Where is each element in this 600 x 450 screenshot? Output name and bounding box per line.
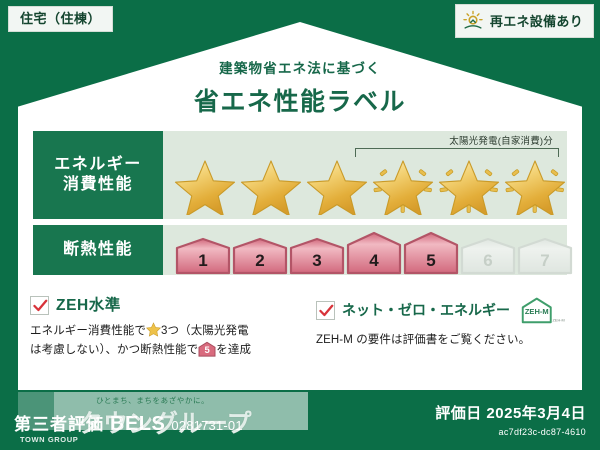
- insulation-header-label: 断熱性能: [63, 240, 133, 260]
- insulation-house-7: 7: [517, 237, 573, 275]
- solar-generation-note: 太陽光発電(自家消費)分: [355, 133, 559, 157]
- insulation-house-number: 5: [403, 252, 459, 269]
- evaluation-date: 評価日 2025年3月4日: [435, 402, 586, 423]
- inline-house-icon: 5: [198, 341, 216, 357]
- label-subtitle: 建築物省エネ法に基づく: [0, 57, 600, 77]
- star-icon: [305, 155, 369, 215]
- insulation-house-4: 4: [346, 231, 402, 275]
- nzeb-criteria-title: ネット・ゼロ・エネルギー: [342, 303, 510, 317]
- insulation-house-number: 6: [460, 252, 516, 269]
- star-icon: [173, 155, 237, 215]
- star-icon-solar: [437, 155, 501, 215]
- energy-header-line2: 消費性能: [63, 175, 133, 195]
- zeh-criteria-body: エネルギー消費性能で 3つ（太陽光発電 は考慮しない）、かつ断熱性能で 5 を達…: [30, 322, 300, 359]
- zeh-criteria-header: ZEH水準: [30, 296, 300, 315]
- nzeb-criteria-header: ネット・ゼロ・エネルギー ZEH-M ZEH-M: [316, 296, 570, 324]
- zeh-body-part3: を達成: [216, 344, 251, 356]
- insulation-house-number: 7: [517, 252, 573, 269]
- performance-table: エネルギー 消費性能 太陽光発電(自家消費)分: [33, 131, 567, 275]
- zeh-body-star-count: 3つ（太陽光発電: [161, 325, 249, 337]
- nzeb-criteria-body: ZEH-M の要件は評価書をご覧ください。: [316, 331, 570, 350]
- renewable-badge-label: 再エネ設備あり: [490, 15, 583, 28]
- sun-solar-icon: [462, 10, 484, 32]
- bels-label: BELS: [110, 413, 165, 436]
- insulation-house-3: 3: [289, 237, 345, 275]
- bels-number: 0281731-01: [171, 418, 242, 433]
- insulation-house-2: 2: [232, 237, 288, 275]
- insulation-performance-header: 断熱性能: [33, 225, 163, 275]
- insulation-house-number: 2: [232, 252, 288, 269]
- insulation-house-number: 3: [289, 252, 345, 269]
- energy-label-root: 住宅（住棟） 再エネ設備あり 建築物省エネ法に基づく 省エネ性能ラベル: [0, 0, 600, 450]
- star-icon-solar: [503, 155, 567, 215]
- insulation-performance-row: 断熱性能 1: [33, 225, 567, 275]
- insulation-performance-cell: 1 2: [163, 225, 567, 275]
- zeh-checkbox[interactable]: [30, 296, 49, 315]
- nzeb-checkbox[interactable]: [316, 301, 335, 320]
- evaluation-hash: ac7df23c-dc87-4610: [435, 427, 586, 437]
- insulation-house-number: 1: [175, 252, 231, 269]
- insulation-house-number: 4: [346, 252, 402, 269]
- building-type-chip: 住宅（住棟）: [8, 6, 113, 32]
- zeh-criteria-block: ZEH水準 エネルギー消費性能で 3つ（太陽光発電 は考慮しない）、かつ断熱性能…: [30, 296, 300, 359]
- label-title-block: 建築物省エネ法に基づく 省エネ性能ラベル: [0, 57, 600, 118]
- inline-star-icon: [146, 322, 161, 337]
- insulation-level-scale: 1 2: [175, 225, 573, 275]
- renewable-equipment-badge: 再エネ設備あり: [455, 4, 594, 38]
- energy-star-rating: [173, 155, 567, 215]
- bels-evaluation-info: 第三者評価 BELS 0281731-01: [14, 410, 243, 436]
- nzeb-criteria-block: ネット・ゼロ・エネルギー ZEH-M ZEH-M ZEH-M の要件は評価書をご…: [300, 296, 570, 359]
- label-title: 省エネ性能ラベル: [0, 82, 600, 118]
- third-party-label: 第三者評価: [14, 410, 104, 435]
- building-type-label: 住宅（住棟）: [20, 11, 101, 26]
- insulation-house-1: 1: [175, 237, 231, 275]
- star-icon-solar: [371, 155, 435, 215]
- footer-bar: 第三者評価 BELS 0281731-01 評価日 2025年3月4日 ac7d…: [0, 392, 600, 450]
- zeh-body-part2: は考慮しない）、かつ断熱性能で: [30, 344, 198, 356]
- zeh-criteria-title: ZEH水準: [56, 298, 121, 314]
- inline-house-number: 5: [198, 346, 216, 356]
- zeh-m-house-logo: ZEH-M ZEH-M: [519, 296, 565, 324]
- star-icon: [239, 155, 303, 215]
- evaluation-date-info: 評価日 2025年3月4日 ac7df23c-dc87-4610: [435, 402, 586, 437]
- insulation-house-6: 6: [460, 237, 516, 275]
- svg-text:ZEH-M: ZEH-M: [553, 318, 565, 322]
- insulation-house-5: 5: [403, 231, 459, 275]
- energy-header-line1: エネルギー: [54, 155, 142, 175]
- energy-performance-header: エネルギー 消費性能: [33, 131, 163, 219]
- zeh-body-part1: エネルギー消費性能で: [30, 325, 146, 337]
- svg-text:ZEH-M: ZEH-M: [525, 307, 549, 316]
- energy-performance-cell: 太陽光発電(自家消費)分: [163, 131, 567, 219]
- solar-note-label: 太陽光発電(自家消費)分: [355, 133, 553, 147]
- energy-performance-row: エネルギー 消費性能 太陽光発電(自家消費)分: [33, 131, 567, 219]
- criteria-section: ZEH水準 エネルギー消費性能で 3つ（太陽光発電 は考慮しない）、かつ断熱性能…: [30, 296, 570, 359]
